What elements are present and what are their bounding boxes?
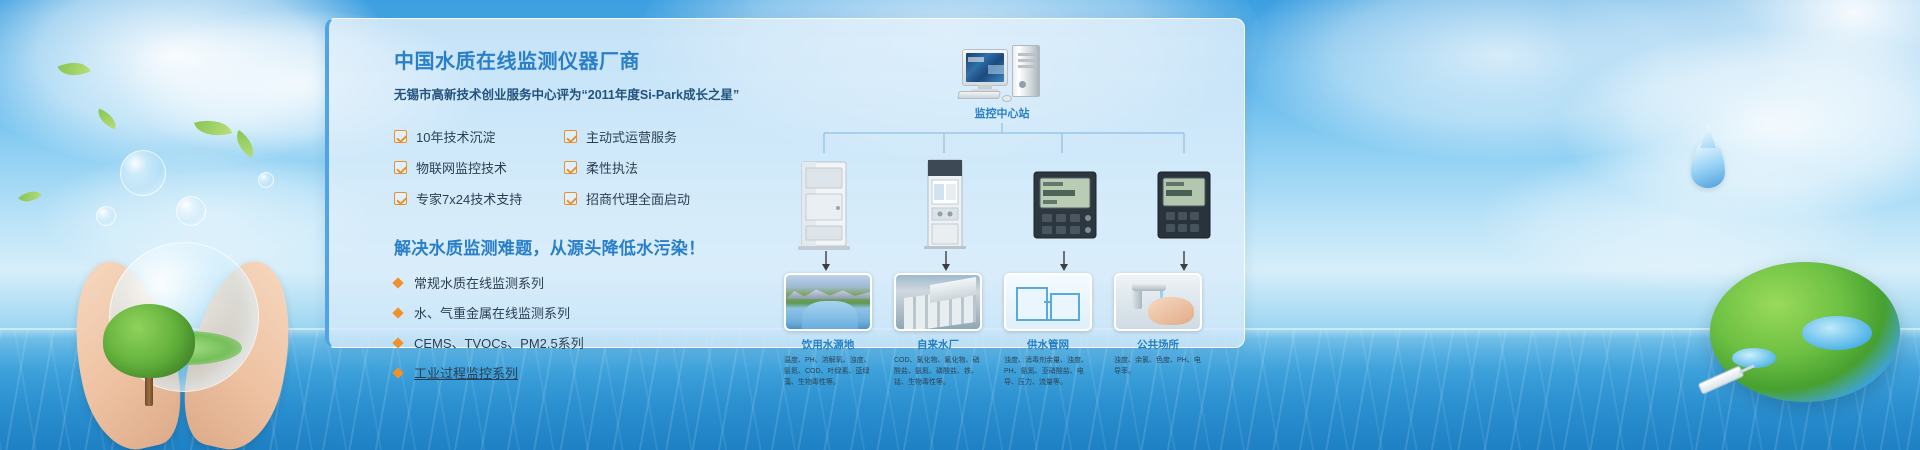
checkbox-checked-icon (564, 192, 577, 205)
mouse-icon (1002, 95, 1012, 102)
checklist-item: 柔性执法 (564, 158, 744, 177)
leaf-icon (230, 130, 260, 158)
scenario-description: COD、氯化物、氟化物、硝酸盐、氨氮、磷酸盐、铁、锰、生物毒性等。 (894, 356, 982, 389)
product-line-list: 常规水质在线监测系列 水、气重金属在线监测系列 CEMS、TVOCs、PM2.5… (394, 273, 754, 382)
scenario-title: 饮用水源地 (784, 337, 872, 352)
monitor-screen (966, 53, 1004, 82)
scenario-card[interactable]: 公共场所 浊度、余氯、色度、PH、电导率。 (1114, 273, 1202, 389)
pipe-line (1020, 319, 1078, 321)
promo-text-column: 中国水质在线监测仪器厂商 无锡市高新技术创业服务中心评为“2011年度Si-Pa… (394, 45, 754, 393)
green-earth-illustration (1710, 262, 1900, 402)
promo-panel: 中国水质在线监测仪器厂商 无锡市高新技术创业服务中心评为“2011年度Si-Pa… (325, 18, 1245, 348)
device-cabinet-analyzer (798, 158, 854, 250)
system-topology-diagram: 监控中心站 (784, 37, 1224, 337)
scenario-title: 自来水厂 (894, 337, 982, 352)
device-row (784, 155, 1224, 250)
product-line-label: 工业过程监控系列 (414, 363, 518, 382)
down-arrow-icons (784, 251, 1224, 275)
pipe-network-thumb (1004, 273, 1092, 331)
checklist-item-label: 柔性执法 (586, 158, 638, 177)
scenario-title: 公共场所 (1114, 337, 1202, 352)
scenario-description: 温度、PH、溶解氧、浊度、氨氮、COD、叶绿素、蓝绿藻、生物毒性等。 (784, 356, 872, 389)
earth-lake (1802, 316, 1872, 350)
section-headline: 解决水质监测难题，从源头降低水污染！ (394, 234, 754, 259)
device-rack-analyzer (918, 158, 974, 250)
pc-tower-icon (1012, 45, 1040, 97)
checkbox-checked-icon (564, 161, 577, 174)
device-panel-controller-narrow (1156, 168, 1212, 242)
bubble-decoration (258, 172, 274, 188)
keyboard-icon (957, 91, 1001, 99)
checklist-item: 10年技术沉淀 (394, 127, 564, 146)
tap-water-thumb (1114, 273, 1202, 331)
scenario-card-row: 饮用水源地 温度、PH、溶解氧、浊度、氨氮、COD、叶绿素、蓝绿藻、生物毒性等。… (784, 273, 1224, 389)
tree-crown (103, 304, 195, 378)
scenario-description: 浊度、余氯、色度、PH、电导率。 (1114, 356, 1202, 378)
page-title: 中国水质在线监测仪器厂商 (394, 45, 754, 74)
hands-holding-tree-illustration (75, 230, 290, 450)
checklist-item-label: 招商代理全面启动 (586, 189, 690, 208)
scenario-description: 浊度、消毒剂余量、浊度、PH、氨氮、亚硝酸盐、电导、压力、流量等。 (1004, 356, 1092, 389)
list-item[interactable]: CEMS、TVOCs、PM2.5系列 (394, 333, 754, 352)
center-station-label: 监控中心站 (922, 105, 1082, 121)
leaf-icon (18, 185, 42, 208)
leaf-icon (94, 109, 119, 130)
product-line-label: 水、气重金属在线监测系列 (414, 303, 570, 322)
diamond-bullet-icon (392, 277, 403, 288)
checklist-item: 主动式运营服务 (564, 127, 744, 146)
scenario-card[interactable]: 自来水厂 COD、氯化物、氟化物、硝酸盐、氨氮、磷酸盐、铁、锰、生物毒性等。 (894, 273, 982, 389)
checklist-item-label: 物联网监控技术 (416, 158, 507, 177)
connector-lines (784, 123, 1224, 157)
monitor-icon (962, 49, 1008, 86)
checkbox-checked-icon (564, 130, 577, 143)
checkbox-checked-icon (394, 130, 407, 143)
brand-subtitle: 无锡市高新技术创业服务中心评为“2011年度Si-Park成长之星” (394, 84, 754, 103)
river-thumb (784, 273, 872, 331)
diamond-bullet-icon (392, 307, 403, 318)
hand-under-tap (1148, 297, 1194, 325)
diamond-bullet-icon (392, 367, 403, 378)
bubble-decoration (96, 206, 116, 226)
feature-checklist: 10年技术沉淀 主动式运营服务 物联网监控技术 柔性执法 专家7x24技术支持 … (394, 127, 754, 208)
scenario-card[interactable]: 饮用水源地 温度、PH、溶解氧、浊度、氨氮、COD、叶绿素、蓝绿藻、生物毒性等。 (784, 273, 872, 389)
checkbox-checked-icon (394, 161, 407, 174)
leaf-icon (58, 55, 91, 83)
product-line-label: CEMS、TVOCs、PM2.5系列 (414, 333, 584, 352)
device-panel-controller-wide (1032, 168, 1098, 242)
list-item[interactable]: 常规水质在线监测系列 (394, 273, 754, 292)
product-line-label: 常规水质在线监测系列 (414, 273, 544, 292)
checklist-item: 招商代理全面启动 (564, 189, 744, 208)
checklist-item-label: 专家7x24技术支持 (416, 189, 522, 208)
checklist-item: 物联网监控技术 (394, 158, 564, 177)
checklist-item-label: 主动式运营服务 (586, 127, 677, 146)
pipe-line (1044, 301, 1066, 303)
bubble-decoration (120, 150, 166, 196)
diamond-bullet-icon (392, 337, 403, 348)
checklist-item: 专家7x24技术支持 (394, 189, 564, 208)
list-item[interactable]: 工业过程监控系列 (394, 363, 754, 382)
leaf-icon (194, 114, 232, 142)
water-plant-thumb (894, 273, 982, 331)
checkbox-checked-icon (394, 192, 407, 205)
scenario-card[interactable]: 供水管网 浊度、消毒剂余量、浊度、PH、氨氮、亚硝酸盐、电导、压力、流量等。 (1004, 273, 1092, 389)
list-item[interactable]: 水、气重金属在线监测系列 (394, 303, 754, 322)
scenario-title: 供水管网 (1004, 337, 1092, 352)
checklist-item-label: 10年技术沉淀 (416, 127, 495, 146)
monitoring-center-computer-icon (962, 45, 1040, 101)
sun-glow (1560, 0, 1920, 210)
bubble-decoration (176, 196, 206, 226)
